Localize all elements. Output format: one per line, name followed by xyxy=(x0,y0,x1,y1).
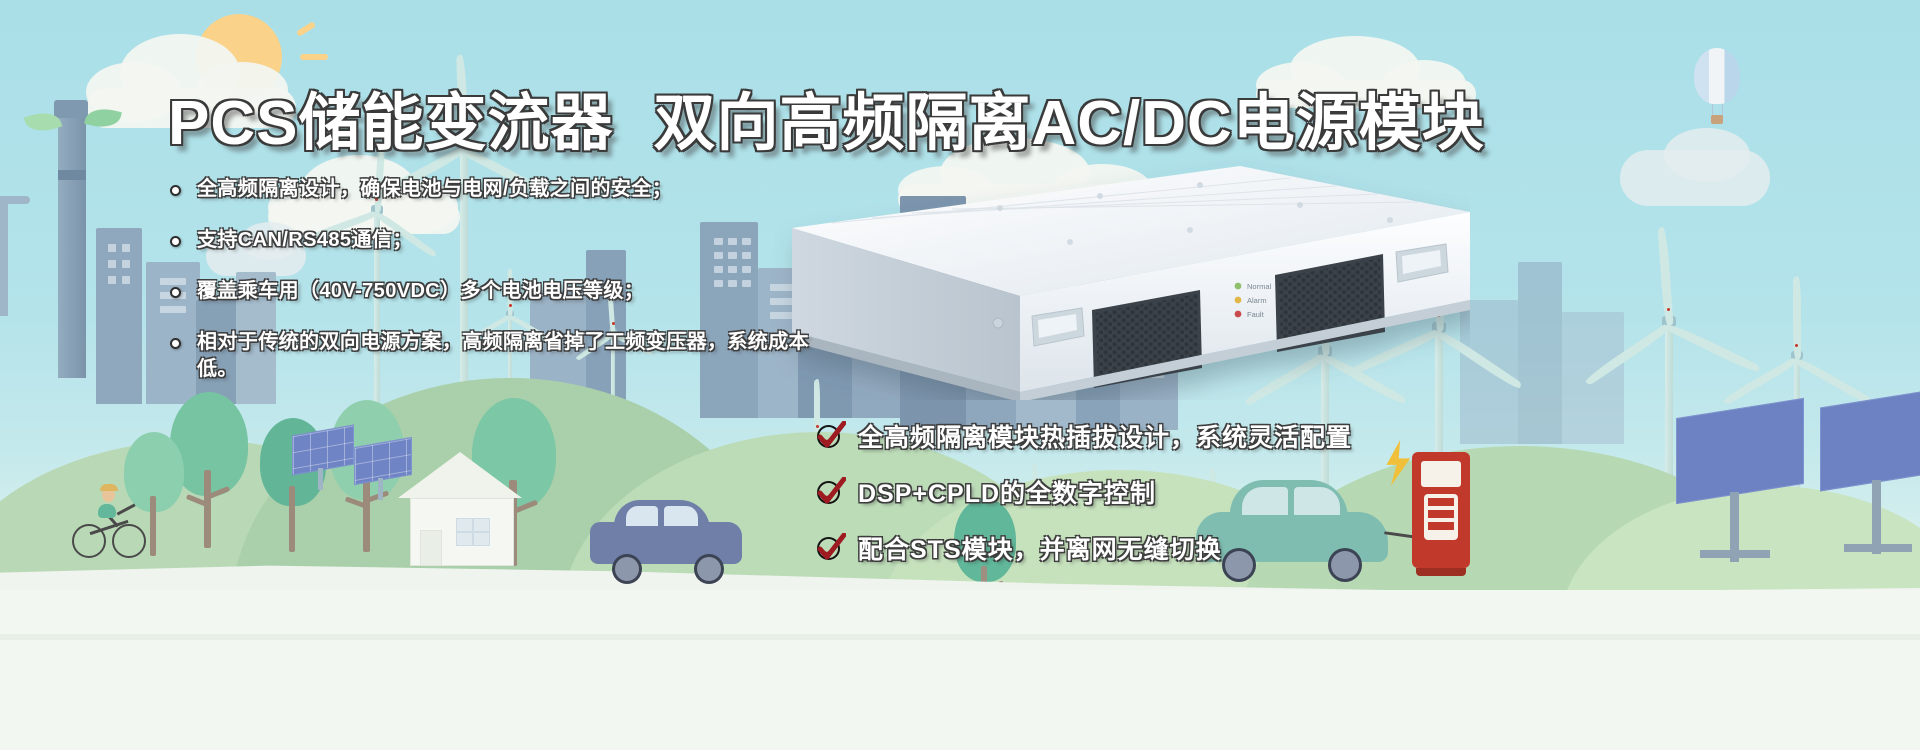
highlight-text: DSP+CPLD的全数字控制 xyxy=(858,474,1156,510)
feature-text: 全高频隔离设计，确保电池与电网/负载之间的安全； xyxy=(197,176,672,203)
list-item: 相对于传统的双向电源方案，高频隔离省掉了工频变压器，系统成本低。 xyxy=(170,329,930,383)
list-item: 全高频隔离模块热插拔设计，系统灵活配置 xyxy=(816,418,1352,454)
highlight-text: 配合STS模块，并离网无缝切换 xyxy=(858,530,1222,566)
banner-stage: Normal Alarm Fault PCS储能变流器双向高频隔离AC/DC电源… xyxy=(0,0,1920,750)
list-item: 全高频隔离设计，确保电池与电网/负载之间的安全； xyxy=(170,176,930,203)
led-label-normal: Normal xyxy=(1247,282,1272,291)
filled-circle-icon xyxy=(170,236,181,247)
feature-text: 支持CAN/RS485通信； xyxy=(197,227,413,254)
list-item: 配合STS模块，并离网无缝切换 xyxy=(816,530,1352,566)
feature-text: 覆盖乘车用（40V-750VDC）多个电池电压等级； xyxy=(197,278,644,305)
highlight-text: 全高频隔离模块热插拔设计，系统灵活配置 xyxy=(858,418,1352,454)
check-circle-icon xyxy=(816,533,846,563)
check-circle-icon xyxy=(816,477,846,507)
list-item: 覆盖乘车用（40V-750VDC）多个电池电压等级； xyxy=(170,278,930,305)
led-label-alarm: Alarm xyxy=(1247,296,1267,305)
feature-text: 相对于传统的双向电源方案，高频隔离省掉了工频变压器，系统成本低。 xyxy=(197,329,817,383)
filled-circle-icon xyxy=(170,287,181,298)
title-part-1: PCS储能变流器 xyxy=(168,89,613,158)
list-item: 支持CAN/RS485通信； xyxy=(170,227,930,254)
filled-circle-icon xyxy=(170,338,181,349)
led-label-fault: Fault xyxy=(1247,310,1265,319)
filled-circle-icon xyxy=(170,185,181,196)
check-circle-icon xyxy=(816,421,846,451)
list-item: DSP+CPLD的全数字控制 xyxy=(816,474,1352,510)
page-title: PCS储能变流器双向高频隔离AC/DC电源模块 xyxy=(168,72,1485,162)
title-part-2: 双向高频隔离AC/DC电源模块 xyxy=(653,89,1484,158)
feature-list: 全高频隔离设计，确保电池与电网/负载之间的安全； 支持CAN/RS485通信； … xyxy=(170,176,930,383)
highlight-list: 全高频隔离模块热插拔设计，系统灵活配置 DSP+CPLD的全数字控制 配合STS… xyxy=(816,418,1352,566)
